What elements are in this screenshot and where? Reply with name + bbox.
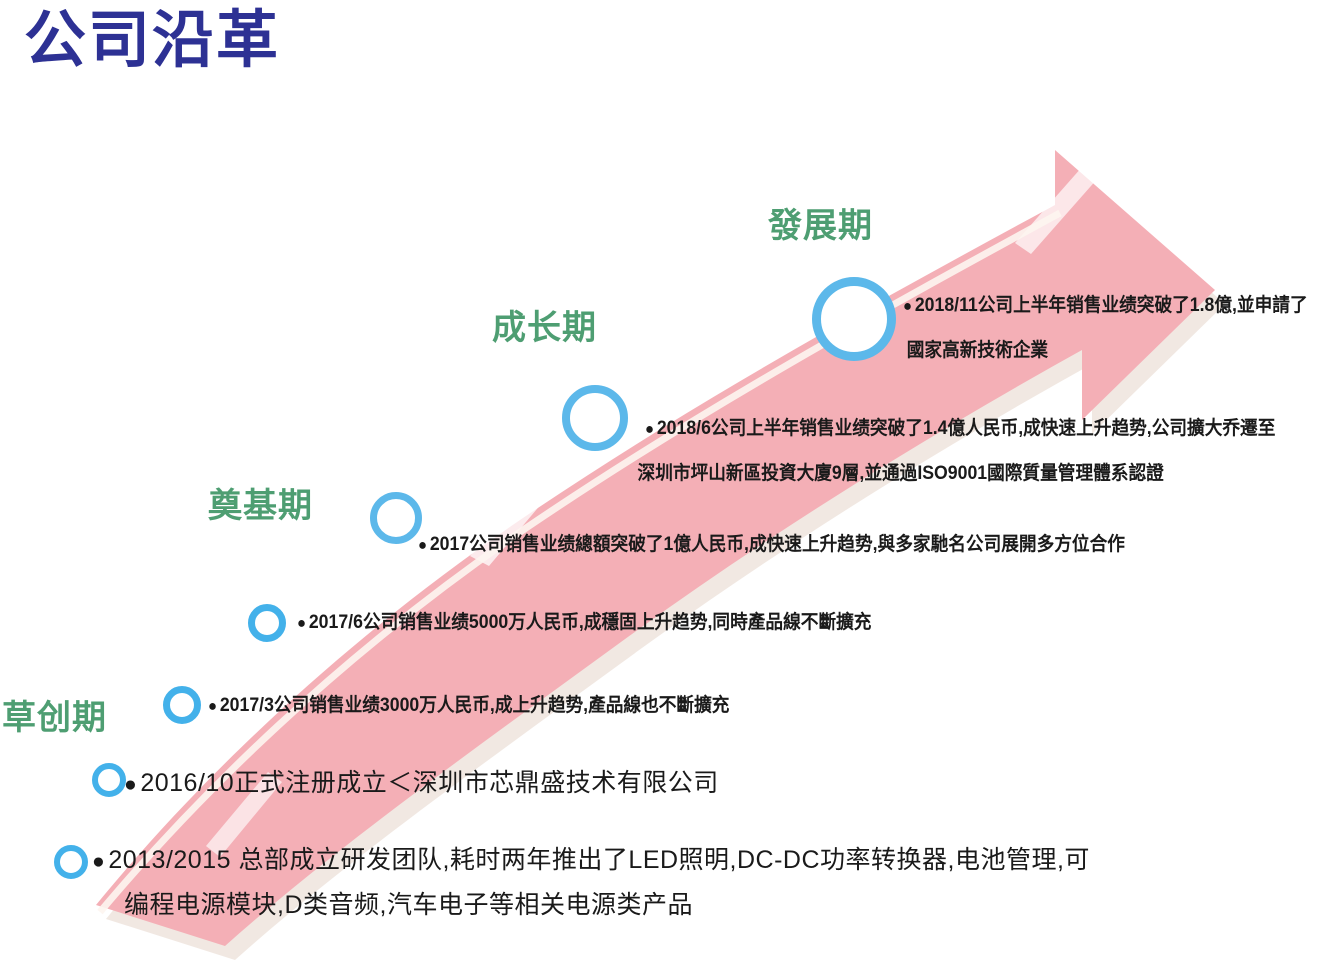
milestone-marker-2017-03[interactable]	[163, 686, 201, 724]
timeline-entry-2017-03-line1: 2017/3公司销售业绩3000万人民币,成上升趋势,產品線也不斷擴充	[220, 695, 730, 716]
milestone-marker-2013-2015[interactable]	[54, 845, 88, 879]
timeline-entry-2018-06: ●2018/6公司上半年销售业绩突破了1.4億人民币,成快速上升趋势,公司擴大乔…	[645, 419, 1275, 483]
bullet-dot-icon: ●	[92, 851, 105, 872]
milestone-marker-2018-06[interactable]	[562, 385, 628, 451]
timeline-entry-2018-06-line2: 深圳市坪山新區投資大廈9層,並通過ISO9001國際質量管理體系認證	[638, 464, 1276, 483]
stage-label-founding: 草创期	[2, 690, 107, 739]
timeline-entry-2018-11-line1: 2018/11公司上半年销售业绩突破了1.8億,並申請了	[915, 295, 1308, 316]
bullet-dot-icon: ●	[903, 298, 912, 314]
timeline-entry-2016-10: ●2016/10正式注册成立＜深圳市芯鼎盛技术有限公司	[124, 771, 719, 796]
timeline-entry-2018-11: ●2018/11公司上半年销售业绩突破了1.8億,並申請了 國家高新技術企業	[903, 296, 1308, 360]
timeline-entry-2017: ●2017公司销售业绩總額突破了1億人民币,成快速上升趋势,與多家馳名公司展開多…	[418, 535, 1125, 554]
milestone-marker-2016-10[interactable]	[92, 763, 126, 797]
growth-arrow-icon	[0, 0, 1329, 974]
milestone-marker-2017-06[interactable]	[248, 604, 286, 642]
timeline-entry-2018-11-line2: 國家高新技術企業	[907, 341, 1308, 360]
timeline-entry-2017-06: ●2017/6公司销售业绩5000万人民币,成穩固上升趋势,同時產品線不斷擴充	[297, 613, 871, 632]
bullet-dot-icon: ●	[418, 537, 427, 553]
timeline-entry-2017-06-line1: 2017/6公司销售业绩5000万人民币,成穩固上升趋势,同時產品線不斷擴充	[309, 612, 872, 633]
stage-label-growth: 成长期	[492, 300, 597, 349]
timeline-entry-2013-2015: ●2013/2015 总部成立研发团队,耗时两年推出了LED照明,DC-DC功率…	[92, 848, 1090, 918]
bullet-dot-icon: ●	[124, 774, 137, 795]
timeline-entry-2017-line1: 2017公司销售业绩總額突破了1億人民币,成快速上升趋势,與多家馳名公司展開多方…	[430, 534, 1125, 555]
stage-label-development: 發展期	[768, 198, 873, 247]
slide-canvas: 公司沿革 草创期 奠基期 成长期 發展期 ●2018/11公司上半年销售业绩突破…	[0, 0, 1329, 974]
bullet-dot-icon: ●	[208, 698, 217, 714]
milestone-marker-2017[interactable]	[370, 492, 422, 544]
milestone-marker-2018-11[interactable]	[812, 277, 896, 361]
stage-label-foundation: 奠基期	[208, 478, 313, 527]
bullet-dot-icon: ●	[645, 421, 654, 437]
timeline-entry-2013-2015-line2: 编程电源模块,D类音频,汽车电子等相关电源类产品	[124, 893, 1090, 918]
timeline-entry-2018-06-line1: 2018/6公司上半年销售业绩突破了1.4億人民币,成快速上升趋势,公司擴大乔遷…	[657, 418, 1276, 439]
timeline-entry-2013-2015-line1: 2013/2015 总部成立研发团队,耗时两年推出了LED照明,DC-DC功率转…	[108, 846, 1090, 874]
timeline-entry-2017-03: ●2017/3公司销售业绩3000万人民币,成上升趋势,產品線也不斷擴充	[208, 696, 729, 715]
bullet-dot-icon: ●	[297, 615, 306, 631]
timeline-entry-2016-10-line1: 2016/10正式注册成立＜深圳市芯鼎盛技术有限公司	[140, 769, 718, 797]
